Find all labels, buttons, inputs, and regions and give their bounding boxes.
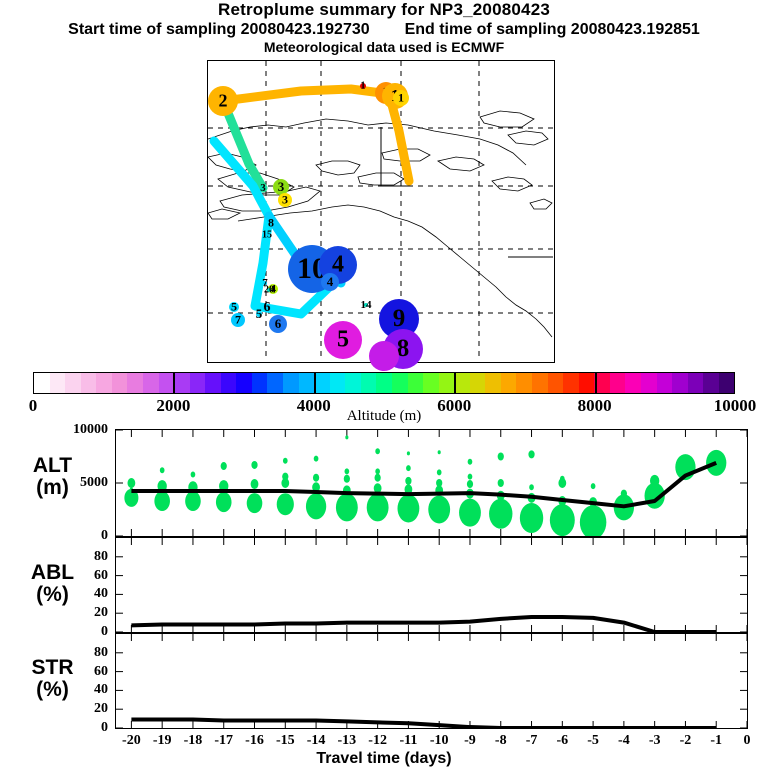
y-tick-label: 20	[40, 605, 108, 621]
x-tick-label: -5	[587, 733, 599, 749]
colorbar-swatch-37	[610, 373, 626, 393]
y-tick-label: 80	[40, 549, 108, 565]
colorbar-swatch-26	[439, 373, 455, 393]
x-tick-label: -1	[710, 733, 722, 749]
x-tick-label: -2	[680, 733, 692, 749]
map-bubble	[321, 273, 339, 291]
x-tick-label: -15	[276, 733, 295, 749]
colorbar-swatch-16	[283, 373, 299, 393]
colorbar-swatch-42	[688, 373, 704, 393]
map-bubble	[269, 315, 287, 333]
x-tick-label: -14	[307, 733, 326, 749]
y-tick-label: 40	[40, 682, 108, 698]
x-tick-label: -12	[368, 733, 387, 749]
colorbar-swatch-5	[112, 373, 128, 393]
colorbar-swatch-11	[205, 373, 221, 393]
colorbar-swatch-19	[330, 373, 346, 393]
y-tick-label: 60	[40, 664, 108, 680]
x-tick-label: -18	[184, 733, 203, 749]
colorbar-swatch-1	[50, 373, 66, 393]
colorbar-divider	[173, 372, 175, 394]
map-bubble	[268, 220, 274, 226]
colorbar-swatch-40	[657, 373, 673, 393]
colorbar-swatch-32	[532, 373, 548, 393]
colorbar-swatch-30	[501, 373, 517, 393]
colorbar-swatch-33	[548, 373, 564, 393]
map-bubble	[263, 304, 271, 312]
colorbar-swatch-39	[641, 373, 657, 393]
start-time-label: Start time of sampling 20080423.192730	[68, 21, 370, 38]
map-bubble	[369, 341, 399, 371]
alt-label-line1: ALT	[5, 455, 100, 477]
y-tick-label: 40	[40, 586, 108, 602]
end-time-label: End time of sampling 20080423.192851	[405, 21, 700, 38]
colorbar-swatch-38	[625, 373, 641, 393]
colorbar-swatch-27	[454, 373, 470, 393]
y-tick-label: 10000	[40, 422, 108, 438]
y-tick-label: 60	[40, 568, 108, 584]
map-bubble	[229, 302, 239, 312]
colorbar-swatch-15	[267, 373, 283, 393]
colorbar-swatch-21	[361, 373, 377, 393]
colorbar-swatch-12	[221, 373, 237, 393]
colorbar-divider	[595, 372, 597, 394]
y-tick-label: 0	[40, 528, 108, 544]
x-tick-label: -9	[464, 733, 476, 749]
x-tick-label: -13	[338, 733, 357, 749]
colorbar-swatch-7	[143, 373, 159, 393]
map-bubble	[256, 311, 262, 317]
map-bubble	[265, 233, 269, 237]
colorbar-divider	[314, 372, 316, 394]
colorbar-swatch-6	[127, 373, 143, 393]
y-tick-label: 20	[40, 701, 108, 717]
colorbar-swatch-35	[579, 373, 595, 393]
colorbar-divider	[454, 372, 456, 394]
x-tick-label: -8	[495, 733, 507, 749]
colorbar-swatch-20	[345, 373, 361, 393]
x-tick-label: -19	[153, 733, 172, 749]
y-tick-label: 0	[40, 720, 108, 736]
colorbar-swatch-10	[190, 373, 206, 393]
colorbar-swatch-22	[376, 373, 392, 393]
colorbar-swatch-3	[81, 373, 97, 393]
colorbar-swatch-2	[65, 373, 81, 393]
colorbar-swatch-8	[159, 373, 175, 393]
colorbar-swatch-28	[470, 373, 486, 393]
page-title: Retroplume summary for NP3_20080423	[0, 0, 768, 20]
y-tick-label: 0	[40, 624, 108, 640]
colorbar-swatch-34	[563, 373, 579, 393]
colorbar-swatch-17	[299, 373, 315, 393]
map-panel[interactable]: 21111333815104447206557614958	[207, 60, 555, 363]
x-tick-label: -7	[526, 733, 538, 749]
sampling-time-line: Start time of sampling 20080423.192730 E…	[0, 20, 768, 39]
alt-plot-graphics	[116, 430, 747, 536]
y-tick-label: 80	[40, 645, 108, 661]
met-data-label: Meteorological data used is ECMWF	[0, 39, 768, 56]
colorbar-swatch-4	[96, 373, 112, 393]
abl-plot-graphics	[116, 538, 747, 632]
colorbar-swatch-25	[423, 373, 439, 393]
str-plot-graphics	[116, 634, 747, 728]
x-tick-label: -11	[399, 733, 417, 749]
map-bubble	[260, 185, 266, 191]
title-block: Retroplume summary for NP3_20080423 Star…	[0, 0, 768, 56]
colorbar-swatch-44	[719, 373, 735, 393]
x-tick-label: -16	[245, 733, 264, 749]
map-bubble	[278, 193, 292, 207]
colorbar-title: Altitude (m)	[0, 408, 768, 425]
y-tick-label: 5000	[40, 475, 108, 491]
map-bubble	[263, 281, 267, 285]
map-bubble	[393, 90, 409, 106]
colorbar-swatch-41	[672, 373, 688, 393]
x-tick-label: 0	[744, 733, 751, 749]
x-tick-label: -10	[430, 733, 449, 749]
x-tick-label: -6	[556, 733, 568, 749]
colorbar-swatch-43	[703, 373, 719, 393]
x-tick-label: -20	[122, 733, 141, 749]
x-tick-label: -17	[214, 733, 233, 749]
map-bubble	[324, 321, 362, 359]
colorbar[interactable]	[33, 372, 735, 394]
x-axis-title: Travel time (days)	[0, 750, 768, 768]
alt-panel[interactable]	[115, 429, 748, 537]
map-bubble	[231, 313, 245, 327]
colorbar-swatch-0	[34, 373, 50, 393]
map-bubble	[364, 303, 368, 307]
colorbar-swatch-9	[174, 373, 190, 393]
str-panel[interactable]	[115, 633, 748, 729]
map-bubble	[267, 288, 271, 292]
abl-panel[interactable]	[115, 537, 748, 633]
colorbar-swatch-29	[485, 373, 501, 393]
x-tick-label: -3	[649, 733, 661, 749]
colorbar-swatch-31	[516, 373, 532, 393]
x-tick-label: -4	[618, 733, 630, 749]
colorbar-swatch-13	[236, 373, 252, 393]
map-bubble	[360, 83, 366, 89]
map-bubble	[208, 86, 238, 116]
colorbar-swatch-14	[252, 373, 268, 393]
colorbar-swatch-18	[314, 373, 330, 393]
colorbar-swatch-24	[408, 373, 424, 393]
colorbar-swatch-23	[392, 373, 408, 393]
